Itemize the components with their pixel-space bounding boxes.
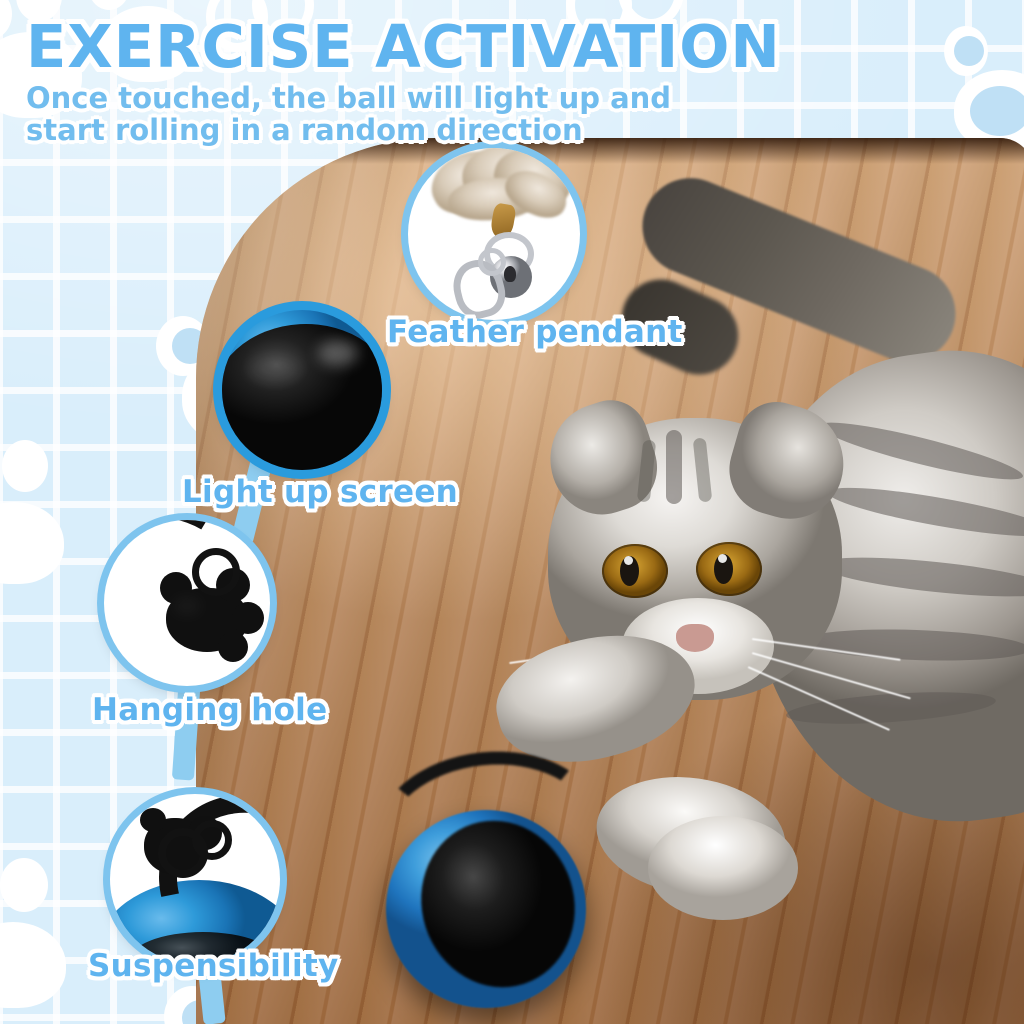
- feather-bell-clasp-icon: [408, 148, 580, 320]
- page-subtitle: Once touched, the ball will light up and…: [26, 82, 726, 147]
- cat-hind-paw: [648, 816, 798, 920]
- paw-handle-ring-icon: [104, 520, 270, 686]
- callout-label-feather-pendant: Feather pendant: [387, 314, 683, 350]
- callout-hanging-hole[interactable]: [104, 520, 270, 686]
- cat-nose: [676, 624, 714, 652]
- callout-light-up-screen[interactable]: [222, 310, 382, 470]
- paw-print-icon: [0, 852, 112, 1022]
- infographic-stage: Feather pendant Light up screen Hanging …: [0, 0, 1024, 1024]
- cat-eye-glint: [624, 556, 633, 565]
- cat-forehead-stripe: [666, 430, 682, 504]
- callout-feather-pendant[interactable]: [408, 148, 580, 320]
- callout-label-hanging-hole: Hanging hole: [92, 692, 327, 728]
- page-title: EXERCISE ACTIVATION: [26, 12, 781, 81]
- callout-label-suspensibility: Suspensibility: [88, 948, 339, 984]
- cat-eye-glint: [718, 554, 727, 563]
- callout-suspensibility[interactable]: [110, 794, 280, 964]
- ball-with-handle-icon: [110, 794, 280, 964]
- paw-print-icon: [0, 436, 108, 596]
- black-screen-ball-icon: [222, 310, 382, 470]
- callout-label-light-up-screen: Light up screen: [182, 474, 458, 510]
